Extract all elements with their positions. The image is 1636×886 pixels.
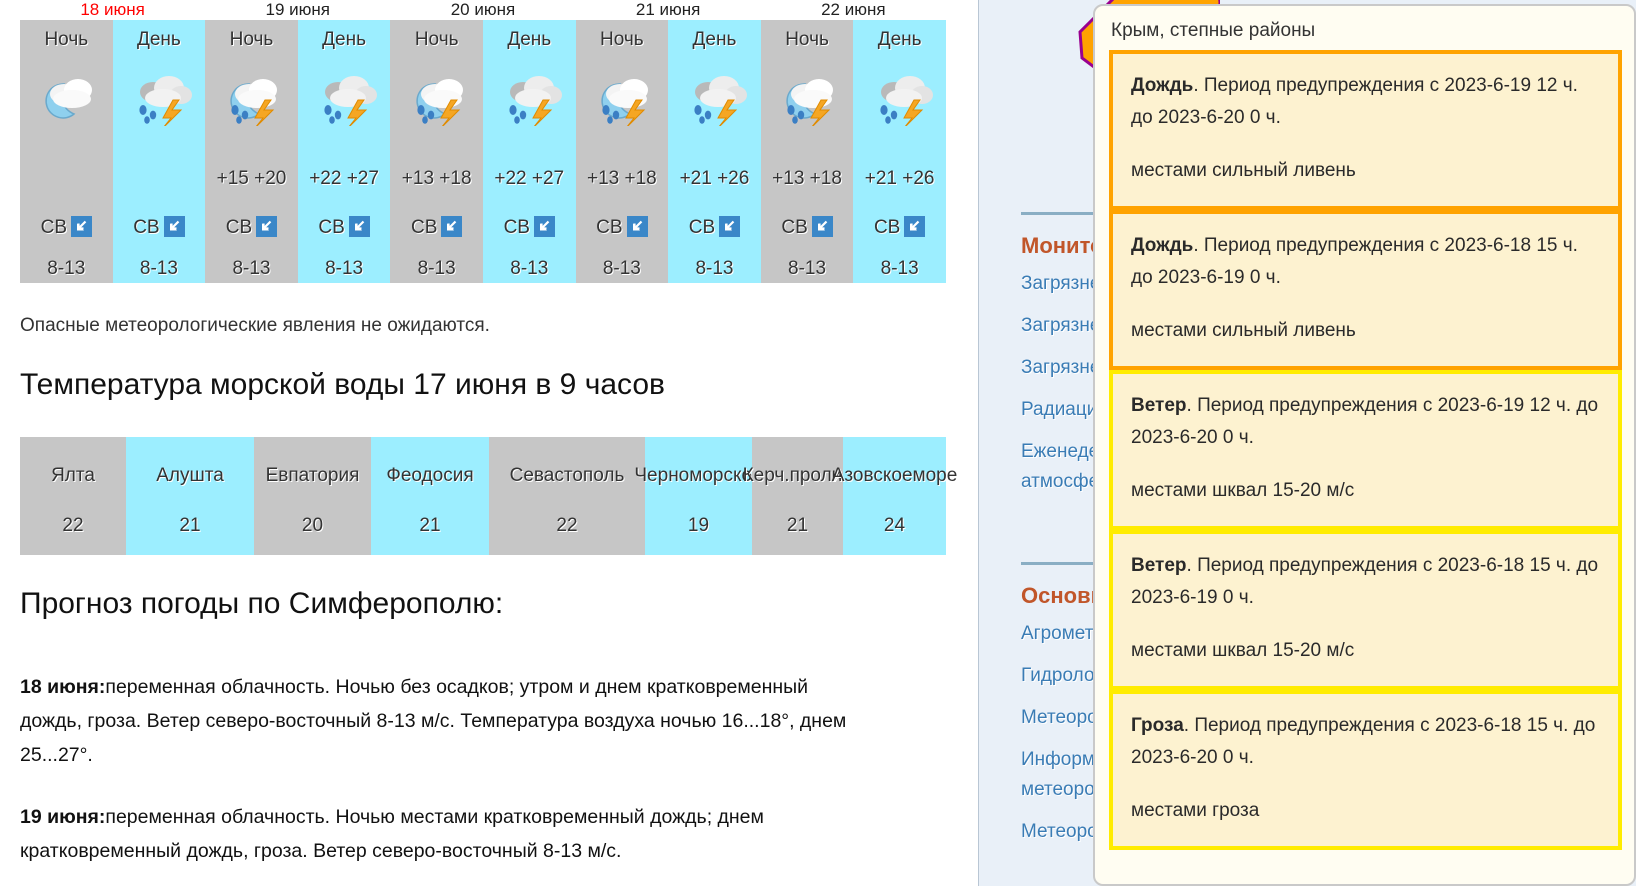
sea-temperature-column: Алушта21 [126, 437, 254, 555]
forecast-wind-direction: СВ [853, 216, 946, 239]
warning-phenomenon: Дождь [1131, 235, 1193, 256]
warning-list: Дождь. Период предупреждения с 2023-6-19… [1095, 50, 1634, 850]
forecast-daypart-label: Ночь [785, 29, 829, 51]
sea-temperature-column: Азовскоеморе24 [843, 437, 946, 555]
wind-direction-label: СВ [318, 217, 344, 238]
rain-thunder-cloud-icon [678, 70, 750, 126]
forecast-date-label: 22 июня [761, 0, 946, 20]
forecast-daypart-label: Ночь [44, 29, 88, 51]
forecast-wind-speed: 8-13 [576, 258, 669, 280]
sea-temperature-value: 24 [843, 515, 946, 537]
warning-card: Дождь. Период предупреждения с 2023-6-18… [1109, 210, 1622, 370]
forecast-column: Ночь+13 +18СВ8-13 [390, 20, 483, 283]
forecast-column: День+21 +26СВ8-13 [853, 20, 946, 283]
warning-card: Ветер. Период предупреждения с 2023-6-18… [1109, 530, 1622, 690]
forecast-wind-direction: СВ [668, 216, 761, 239]
wind-direction-label: СВ [689, 217, 715, 238]
forecast-date-label: 20 июня [390, 0, 575, 20]
weather-warning-popup[interactable]: Крым, степные районы Дождь. Период преду… [1093, 4, 1636, 886]
forecast-wind-speed: 8-13 [113, 258, 206, 280]
sea-temperature-value: 22 [489, 515, 645, 537]
forecast-wind-direction: СВ [113, 216, 206, 239]
forecast-column: Ночь+13 +18СВ8-13 [576, 20, 669, 283]
sea-temperature-table: Ялта22Алушта21Евпатория20Феодосия21Севас… [20, 437, 946, 555]
moon-rain-thunder-icon [586, 70, 658, 126]
sea-temperature-value: 21 [371, 515, 489, 537]
warning-header: Дождь. Период предупреждения с 2023-6-19… [1131, 70, 1600, 134]
warning-period: . Период предупреждения с 2023-6-18 15 ч… [1131, 715, 1595, 768]
warning-period: . Период предупреждения с 2023-6-19 12 ч… [1131, 395, 1598, 448]
rain-thunder-cloud-icon [308, 70, 380, 126]
forecast-daypart-label: День [322, 29, 366, 51]
warning-header: Дождь. Период предупреждения с 2023-6-18… [1131, 230, 1600, 294]
wind-direction-label: СВ [596, 217, 622, 238]
forecast-paragraph-text: переменная облачность. Ночью местами кра… [20, 806, 764, 862]
warning-header: Ветер. Период предупреждения с 2023-6-18… [1131, 550, 1600, 614]
moon-cloud-icon [30, 70, 102, 126]
moon-rain-thunder-icon [771, 70, 843, 126]
sea-temperature-column: Феодосия21 [371, 437, 489, 555]
warning-description: местами сильный ливень [1131, 156, 1600, 186]
wind-arrow-sw-icon [256, 216, 277, 237]
sea-temperature-column: Евпатория20 [254, 437, 371, 555]
warning-phenomenon: Ветер [1131, 555, 1187, 576]
sea-location-label: Алушта [126, 437, 254, 515]
forecast-paragraph-text: переменная облачность. Ночью без осадков… [20, 676, 846, 766]
page-root: 18 июня19 июня20 июня21 июня22 июня Ночь… [0, 0, 1636, 886]
warning-period: . Период предупреждения с 2023-6-19 12 ч… [1131, 75, 1578, 128]
warning-card: Гроза. Период предупреждения с 2023-6-18… [1109, 690, 1622, 850]
warning-description: местами шквал 15-20 м/с [1131, 476, 1600, 506]
forecast-paragraph: 18 июня:переменная облачность. Ночью без… [20, 670, 860, 772]
forecast-column: ДеньСВ8-13 [113, 20, 206, 283]
wind-arrow-sw-icon [164, 216, 185, 237]
wind-arrow-sw-icon [627, 216, 648, 237]
forecast-column: День+22 +27СВ8-13 [298, 20, 391, 283]
forecast-wind-direction: СВ [298, 216, 391, 239]
forecast-daypart-label: День [137, 29, 181, 51]
forecast-wind-speed: 8-13 [761, 258, 854, 280]
warning-description: местами гроза [1131, 796, 1600, 826]
wind-direction-label: СВ [781, 217, 807, 238]
forecast-temperature: +13 +18 [390, 168, 483, 190]
sea-location-label: Севастополь [489, 437, 645, 515]
forecast-temperature: +15 +20 [205, 168, 298, 190]
sea-location-label: Черноморское [645, 437, 752, 515]
forecast-date-label: 19 июня [205, 0, 390, 20]
forecast-wind-speed: 8-13 [668, 258, 761, 280]
rain-thunder-cloud-icon [864, 70, 936, 126]
forecast-daypart-label: Ночь [600, 29, 644, 51]
warning-phenomenon: Дождь [1131, 75, 1193, 96]
wind-direction-label: СВ [226, 217, 252, 238]
sea-location-label: Ялта [20, 437, 126, 515]
warning-header: Ветер. Период предупреждения с 2023-6-19… [1131, 390, 1600, 454]
forecast-wind-direction: СВ [20, 216, 113, 239]
sea-temperature-column: Ялта22 [20, 437, 126, 555]
sea-temperature-value: 20 [254, 515, 371, 537]
forecast-wind-direction: СВ [483, 216, 576, 239]
wind-direction-label: СВ [504, 217, 530, 238]
moon-rain-thunder-icon [215, 70, 287, 126]
forecast-daypart-label: Ночь [415, 29, 459, 51]
wind-direction-label: СВ [133, 217, 159, 238]
warning-card: Ветер. Период предупреждения с 2023-6-19… [1109, 370, 1622, 530]
forecast-wind-speed: 8-13 [483, 258, 576, 280]
forecast-daypart-label: День [878, 29, 922, 51]
forecast-temperature: +21 +26 [853, 168, 946, 190]
warning-header: Гроза. Период предупреждения с 2023-6-18… [1131, 710, 1600, 774]
sea-temperature-value: 22 [20, 515, 126, 537]
wind-arrow-sw-icon [349, 216, 370, 237]
simferopol-forecast-title: Прогноз погоды по Симферополю: [20, 587, 503, 621]
forecast-wind-speed: 8-13 [853, 258, 946, 280]
sea-location-label: Феодосия [371, 437, 489, 515]
sea-location-label: Керч.пролив [752, 437, 843, 515]
forecast-paragraph-date: 18 июня: [20, 676, 105, 698]
warning-description: местами сильный ливень [1131, 316, 1600, 346]
forecast-column: День+21 +26СВ8-13 [668, 20, 761, 283]
forecast-column: День+22 +27СВ8-13 [483, 20, 576, 283]
wind-arrow-sw-icon [812, 216, 833, 237]
sea-temperature-column: Черноморское19 [645, 437, 752, 555]
warning-description: местами шквал 15-20 м/с [1131, 636, 1600, 666]
forecast-temperature: +22 +27 [298, 168, 391, 190]
forecast-date-header: 18 июня19 июня20 июня21 июня22 июня [20, 0, 946, 20]
sea-temperature-value: 19 [645, 515, 752, 537]
warning-period: . Период предупреждения с 2023-6-18 15 ч… [1131, 235, 1578, 288]
forecast-paragraph: 19 июня:переменная облачность. Ночью мес… [20, 800, 860, 868]
wind-direction-label: СВ [41, 217, 67, 238]
wind-arrow-sw-icon [719, 216, 740, 237]
forecast-column: НочьСВ8-13 [20, 20, 113, 283]
forecast-wind-direction: СВ [205, 216, 298, 239]
forecast-paragraph-date: 19 июня: [20, 806, 105, 828]
hazard-note: Опасные метеорологические явления не ожи… [20, 315, 490, 337]
forecast-daypart-label: Ночь [230, 29, 274, 51]
sea-temperature-value: 21 [126, 515, 254, 537]
forecast-date-label: 18 июня [20, 0, 205, 20]
wind-direction-label: СВ [874, 217, 900, 238]
forecast-column: Ночь+13 +18СВ8-13 [761, 20, 854, 283]
warning-card: Дождь. Период предупреждения с 2023-6-19… [1109, 50, 1622, 210]
forecast-temperature: +13 +18 [761, 168, 854, 190]
forecast-wind-speed: 8-13 [390, 258, 483, 280]
popup-region-title: Крым, степные районы [1111, 20, 1634, 42]
forecast-wind-speed: 8-13 [298, 258, 391, 280]
sea-temperature-title: Температура морской воды 17 июня в 9 час… [20, 368, 665, 402]
rain-thunder-cloud-icon [123, 70, 195, 126]
forecast-daypart-label: День [507, 29, 551, 51]
forecast-wind-direction: СВ [761, 216, 854, 239]
forecast-wind-speed: 8-13 [20, 258, 113, 280]
forecast-daypart-label: День [693, 29, 737, 51]
wind-arrow-sw-icon [904, 216, 925, 237]
forecast-temperature: +13 +18 [576, 168, 669, 190]
moon-rain-thunder-icon [401, 70, 473, 126]
main-content: 18 июня19 июня20 июня21 июня22 июня Ночь… [0, 0, 978, 886]
forecast-wind-speed: 8-13 [205, 258, 298, 280]
wind-direction-label: СВ [411, 217, 437, 238]
sea-temperature-column: Керч.пролив21 [752, 437, 843, 555]
warning-period: . Период предупреждения с 2023-6-18 15 ч… [1131, 555, 1598, 608]
warning-phenomenon: Гроза [1131, 715, 1184, 736]
sea-temperature-column: Севастополь22 [489, 437, 645, 555]
forecast-column: Ночь+15 +20СВ8-13 [205, 20, 298, 283]
rain-thunder-cloud-icon [493, 70, 565, 126]
sea-location-label: Евпатория [254, 437, 371, 515]
warning-phenomenon: Ветер [1131, 395, 1187, 416]
sea-location-label: Азовскоеморе [843, 437, 946, 515]
forecast-wind-direction: СВ [390, 216, 483, 239]
forecast-wind-direction: СВ [576, 216, 669, 239]
sea-temperature-value: 21 [752, 515, 843, 537]
forecast-date-label: 21 июня [576, 0, 761, 20]
forecast-temperature: +22 +27 [483, 168, 576, 190]
forecast-temperature: +21 +26 [668, 168, 761, 190]
forecast-table: НочьСВ8-13ДеньСВ8-13Ночь+15 +20СВ8-13Ден… [20, 20, 946, 283]
wind-arrow-sw-icon [441, 216, 462, 237]
wind-arrow-sw-icon [534, 216, 555, 237]
wind-arrow-sw-icon [71, 216, 92, 237]
